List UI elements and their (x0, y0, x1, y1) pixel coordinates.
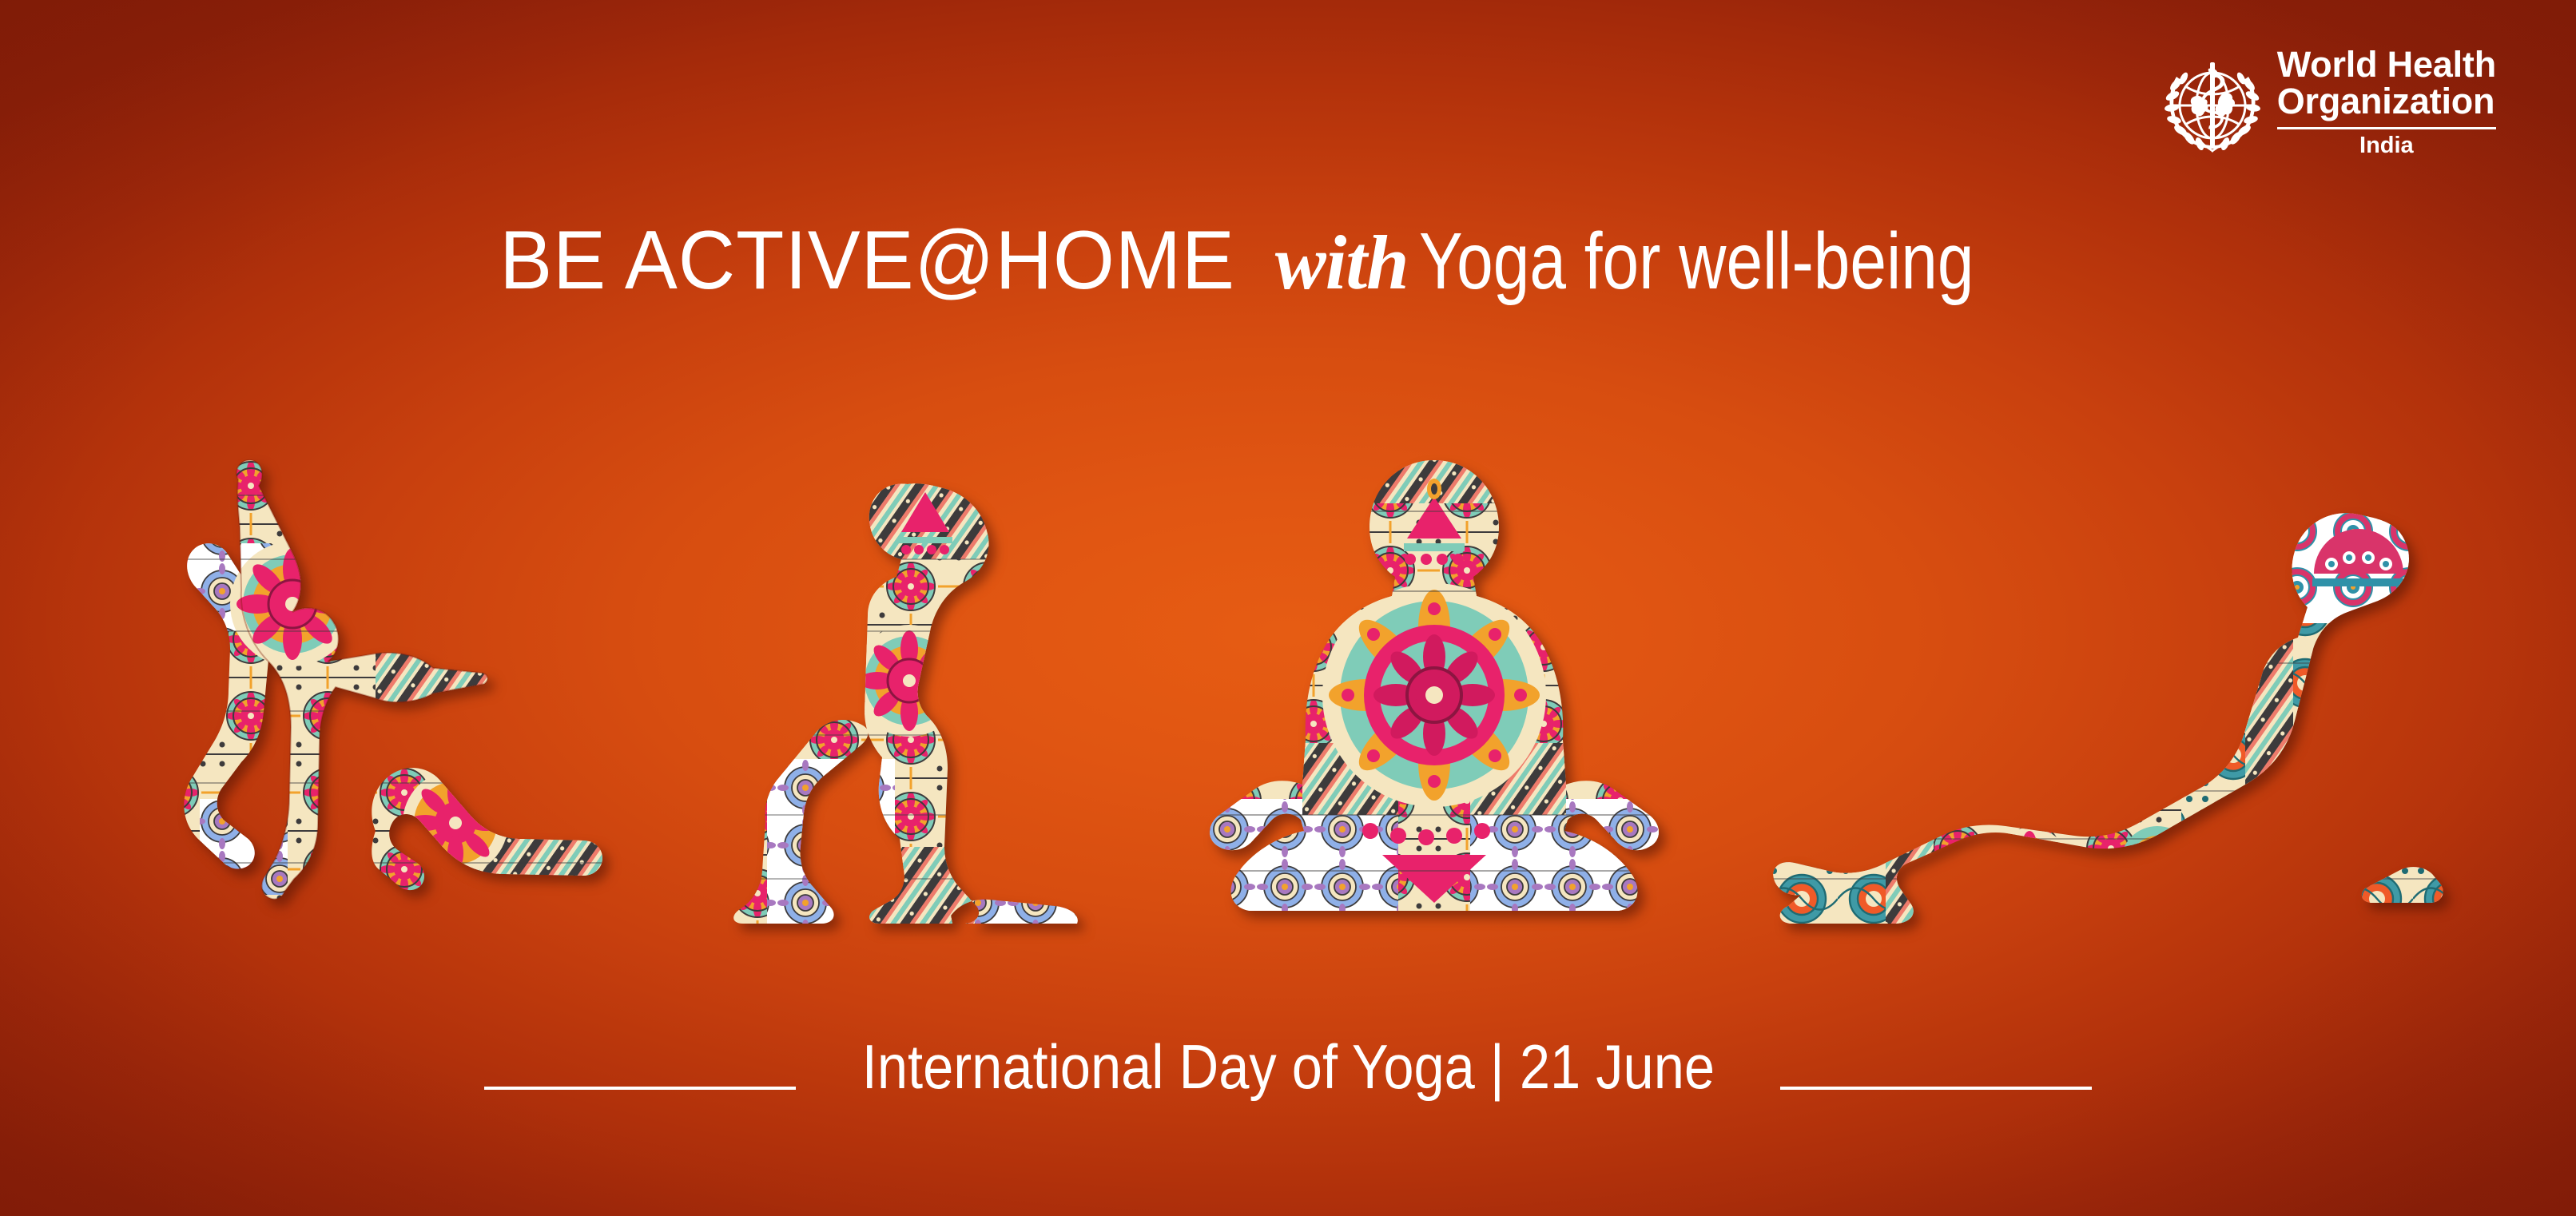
headline: BE ACTIVE@HOMEwithYoga for well-being (0, 219, 2576, 302)
headline-with-text: with (1275, 225, 1409, 301)
who-name-line-1: World Health (2277, 46, 2496, 83)
who-divider-rule (2277, 127, 2496, 129)
yoga-figures-row (0, 415, 2576, 927)
footer-text: International Day of Yoga | 21 June (861, 1035, 1714, 1098)
who-logo: World Health Organization India (2164, 46, 2496, 157)
figure-standing-split (136, 447, 631, 927)
who-emblem-icon (2164, 48, 2261, 153)
who-name-line-2: Organization (2277, 83, 2496, 120)
headline-tail-text: Yoga for well-being (1419, 221, 1974, 301)
footer-rule-right (1780, 1087, 2092, 1090)
who-wordmark: World Health Organization India (2277, 46, 2496, 157)
footer-caption: International Day of Yoga | 21 June (0, 1035, 2576, 1098)
who-country-label: India (2277, 134, 2496, 157)
footer-rule-left (484, 1087, 796, 1090)
yoga-banner: World Health Organization India BE ACTIV… (0, 0, 2576, 1216)
figure-cobra (1766, 503, 2445, 927)
figure-low-lunge (719, 471, 1103, 927)
figure-lotus (1199, 455, 1670, 927)
headline-main-text: BE ACTIVE@HOME (499, 219, 1235, 302)
